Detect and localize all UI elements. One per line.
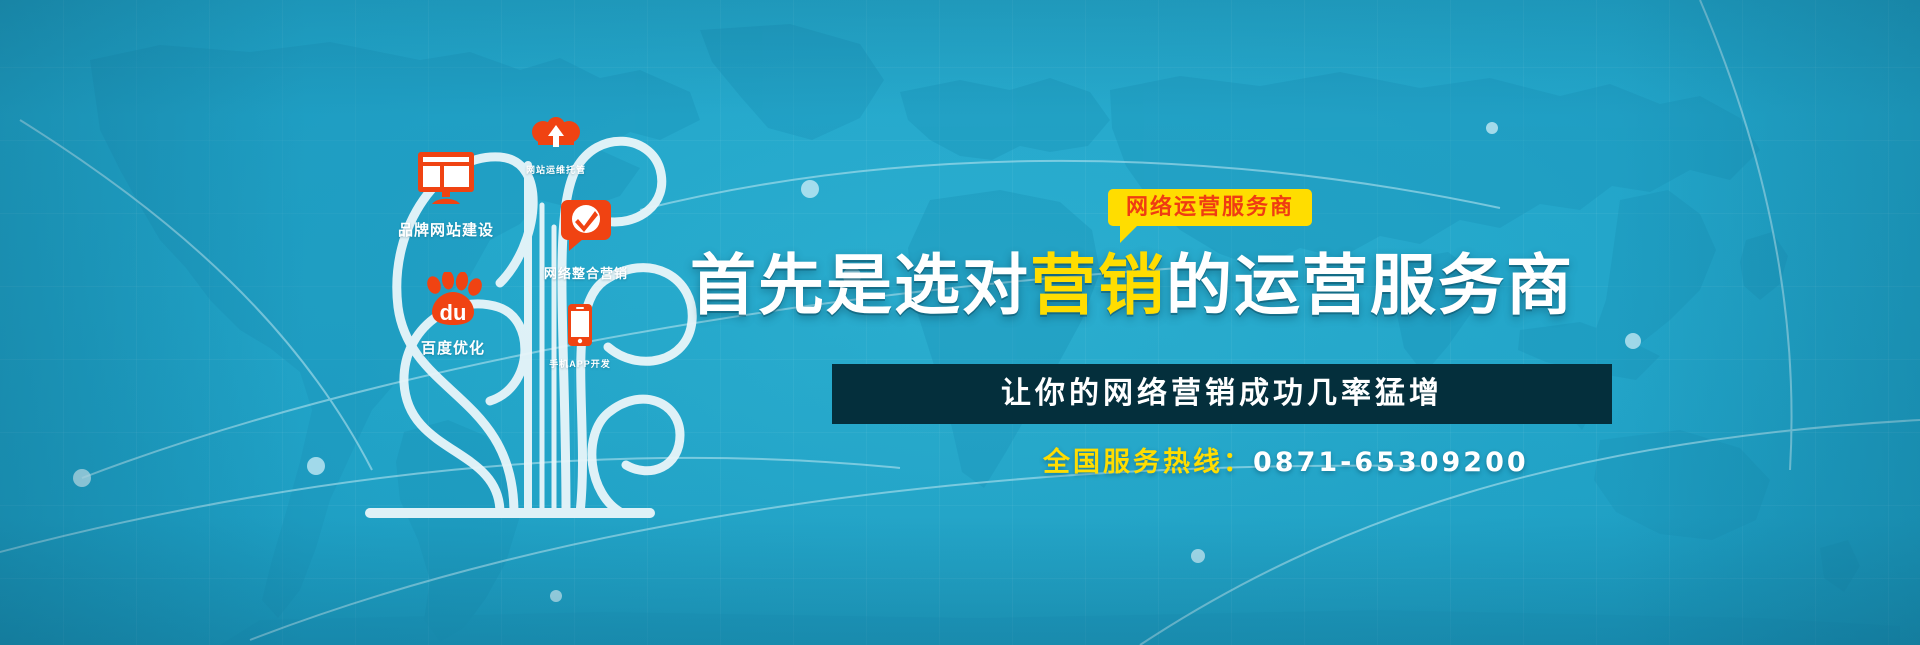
headline-part-two: 的运营服务商 [1166, 248, 1574, 322]
subtitle-bar: 让你的网络营销成功几率猛增 [832, 364, 1612, 424]
mobile-phone-icon [567, 303, 593, 352]
tree-node-label: 网络整合营销 [544, 263, 628, 282]
hotline-label: 全国服务热线： [1043, 447, 1253, 477]
status-badge: 网络运营服务商 [1108, 189, 1312, 226]
hotline-number[interactable]: 0871-65309200 [1253, 447, 1529, 478]
subtitle-text: 让你的网络营销成功几率猛增 [1001, 379, 1443, 409]
background-vignette [0, 0, 1920, 645]
tree-node-app: 手机APP开发 [540, 300, 620, 372]
tree-node-label: 手机APP开发 [549, 357, 611, 370]
tree-node-label: 品牌网站建设 [398, 219, 494, 240]
headline-part-one: 首先是选对 [690, 248, 1030, 322]
tree-node-label: 网站运维托管 [526, 163, 586, 176]
hotline: 全国服务热线：0871-65309200 [1043, 449, 1529, 476]
tree-node-cloud: 网站运维托管 [516, 110, 596, 182]
tree-node-website: 品牌网站建设 [386, 140, 506, 250]
monitor-icon [417, 151, 475, 210]
tree-node-marketing: 网络整合营销 [538, 195, 634, 285]
baidu-du-text: du [440, 300, 467, 325]
badge-label: 网络运营服务商 [1126, 194, 1294, 219]
tree-node-label: 百度优化 [421, 337, 485, 358]
baidu-paw-icon: du [422, 272, 484, 331]
headline-highlight: 营销 [1030, 248, 1166, 322]
speech-bubble-tail-icon [1120, 226, 1137, 243]
page-title: 首先是选对营销的运营服务商 [690, 252, 1570, 318]
speech-bubble-check-icon [560, 199, 612, 256]
tree-node-baidu: du 百度优化 [398, 265, 508, 365]
promotional-banner: 品牌网站建设 du 百度优化 [0, 0, 1920, 645]
cloud-upload-icon [530, 117, 582, 158]
